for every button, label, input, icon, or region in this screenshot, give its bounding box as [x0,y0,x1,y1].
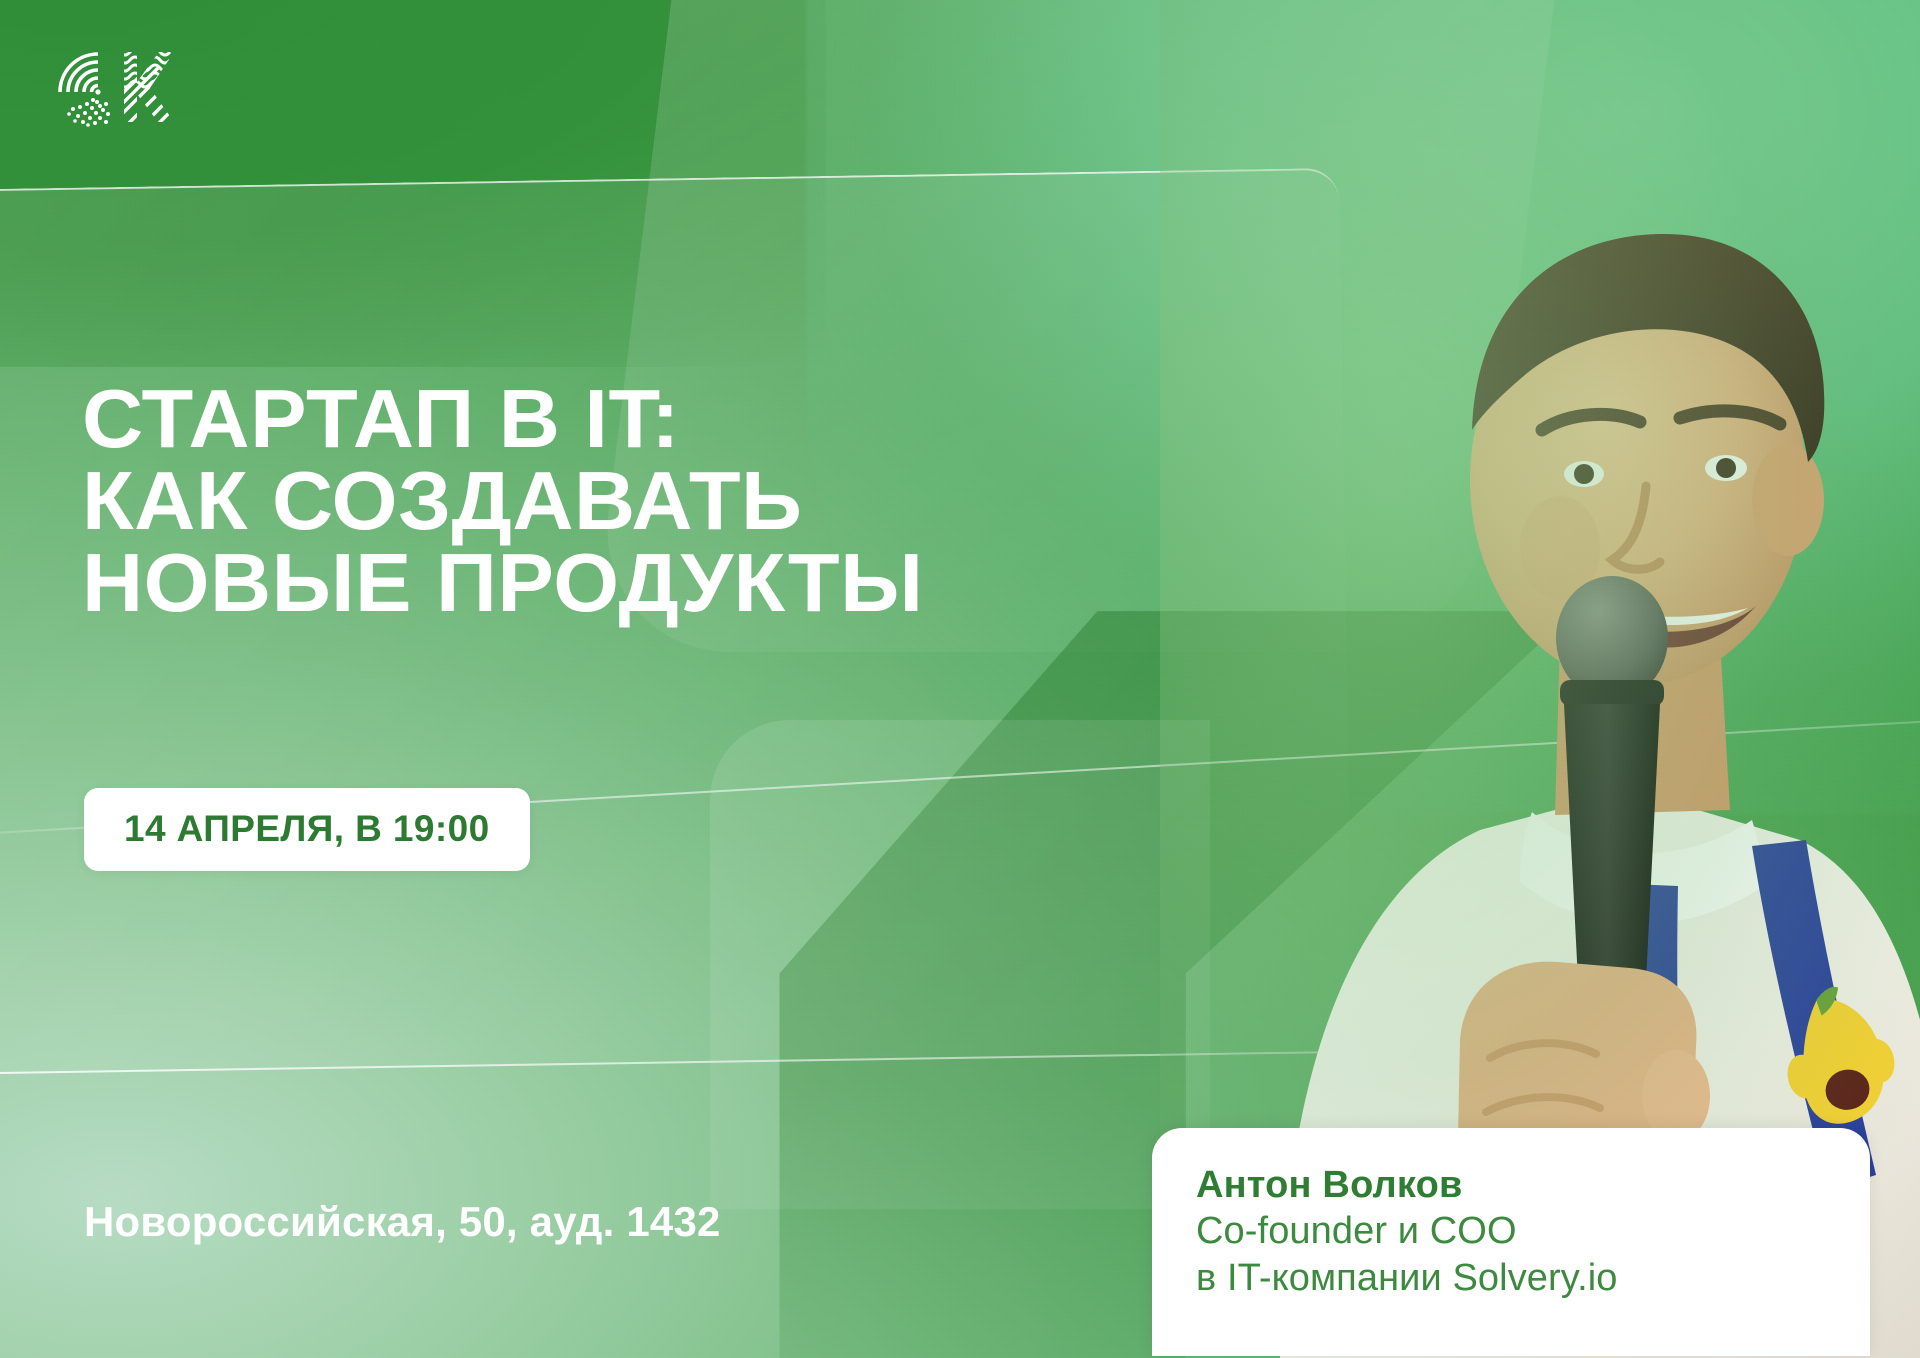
event-poster: СТАРТАП В IT: КАК СОЗДАВАТЬ НОВЫЕ ПРОДУК… [0,0,1920,1358]
venue-address: Новороссийская, 50, ауд. 1432 [84,1198,721,1246]
page-title: СТАРТАП В IT: КАК СОЗДАВАТЬ НОВЫЕ ПРОДУК… [82,378,1163,624]
headline-line-3: НОВЫЕ ПРОДУКТЫ [82,542,1163,624]
date-badge: 14 АПРЕЛЯ, В 19:00 [84,788,530,871]
headline-line-1: СТАРТАП В IT: [82,378,1163,460]
speaker-company: в IT-компании Solvery.io [1196,1255,1826,1302]
speaker-name: Антон Волков [1196,1162,1826,1208]
speaker-role: Co-founder и COO [1196,1208,1826,1255]
ek-logo-icon [52,44,180,130]
speaker-card: Антон Волков Co-founder и COO в IT-компа… [1152,1128,1870,1356]
headline-line-2: КАК СОЗДАВАТЬ [82,460,1163,542]
